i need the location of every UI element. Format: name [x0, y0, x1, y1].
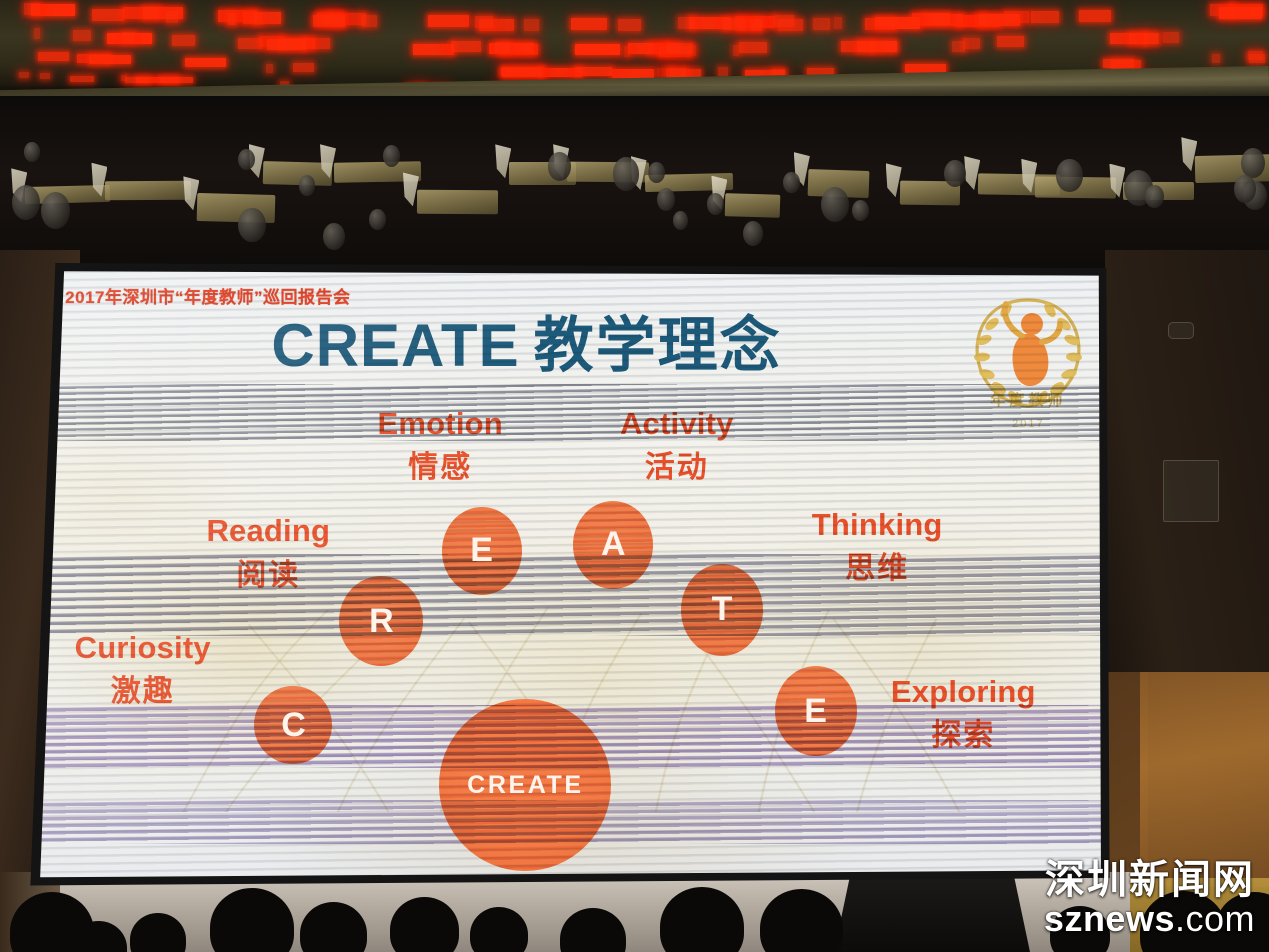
- led-light: [1031, 11, 1059, 23]
- slide-title: CREATE教学理念: [26, 297, 1027, 384]
- led-light: [428, 15, 469, 27]
- led-light: [89, 55, 131, 64]
- stage-lamp: [383, 145, 400, 167]
- label-exploring-zh: 探索: [858, 716, 1068, 756]
- stage-lamp: [673, 211, 688, 230]
- slide-title-en: CREATE: [271, 312, 519, 379]
- led-light: [172, 35, 195, 46]
- podium: [830, 876, 1030, 952]
- label-activity-en: Activity: [592, 403, 762, 445]
- led-light: [413, 44, 454, 55]
- watermark: 深圳新闻网 sznews.com: [1044, 860, 1255, 938]
- led-light: [293, 63, 314, 72]
- led-light: [24, 3, 40, 15]
- label-emotion-zh: 情感: [350, 448, 530, 488]
- stage-lamp: [24, 142, 40, 161]
- led-light: [997, 36, 1024, 47]
- watermark-site-name: sznews: [1044, 898, 1175, 939]
- led-light: [1103, 59, 1134, 68]
- label-reading: Reading 阅读: [178, 510, 358, 596]
- bubble-a: A: [573, 501, 653, 589]
- stage-lamp: [12, 185, 41, 221]
- led-light: [1219, 7, 1262, 19]
- led-light: [1079, 10, 1111, 22]
- led-light: [624, 46, 630, 57]
- label-thinking-zh: 思维: [782, 549, 972, 589]
- led-light: [575, 44, 620, 55]
- led-light: [774, 15, 794, 27]
- stage-lamp: [743, 221, 763, 246]
- led-light: [657, 68, 665, 77]
- led-light: [313, 15, 345, 27]
- led-light: [834, 17, 842, 29]
- bubble-e1-letter: E: [470, 531, 493, 570]
- stage-lamp: [1056, 159, 1082, 192]
- bubble-e1: E: [442, 507, 522, 595]
- label-thinking-en: Thinking: [782, 504, 972, 546]
- led-light: [38, 52, 69, 61]
- label-reading-en: Reading: [178, 510, 358, 552]
- label-curiosity: Curiosity 激趣: [48, 627, 238, 713]
- bubble-t-letter: T: [712, 590, 733, 629]
- led-light: [979, 14, 1020, 26]
- stage-lamp: [613, 157, 640, 191]
- led-light: [571, 18, 607, 30]
- led-light: [1212, 54, 1220, 63]
- led-light: [678, 17, 695, 29]
- wall-vent: [1168, 322, 1194, 339]
- led-light: [160, 77, 193, 83]
- bubble-create-label: CREATE: [467, 771, 584, 800]
- label-activity: Activity 活动: [592, 403, 762, 489]
- stage-lamp: [1145, 185, 1163, 208]
- led-light: [267, 39, 306, 50]
- label-emotion: Emotion 情感: [350, 403, 530, 489]
- led-light: [19, 72, 29, 78]
- led-light: [228, 13, 235, 25]
- watermark-site: sznews.com: [1044, 901, 1255, 938]
- label-curiosity-en: Curiosity: [48, 627, 238, 669]
- led-light: [122, 32, 135, 43]
- led-light: [34, 28, 40, 39]
- led-light: [739, 42, 767, 53]
- truss-fixture: [725, 193, 781, 218]
- logo-caption: 年度教师: [962, 389, 1094, 410]
- screen-scanband-1: [26, 384, 1114, 441]
- stage-lamp: [783, 172, 800, 193]
- led-light: [723, 18, 746, 30]
- bubble-e2-letter: E: [804, 692, 827, 731]
- label-thinking: Thinking 思维: [782, 504, 972, 590]
- led-light: [92, 9, 124, 21]
- stage-lamp: [369, 209, 386, 230]
- led-light: [618, 19, 641, 31]
- led-light: [1144, 33, 1159, 44]
- truss-fixture: [105, 181, 191, 200]
- bubble-t: T: [681, 564, 763, 656]
- led-light: [475, 16, 493, 28]
- led-light: [451, 41, 481, 52]
- logo-year: 2017: [962, 418, 1094, 430]
- led-light: [666, 68, 686, 77]
- audience-head: [390, 897, 459, 952]
- bubble-c-letter: C: [281, 706, 306, 745]
- led-light: [70, 76, 94, 82]
- stage-lamp: [707, 193, 725, 215]
- led-light: [495, 42, 510, 53]
- stage-lamp: [41, 192, 70, 228]
- label-emotion-en: Emotion: [350, 403, 530, 445]
- led-light: [73, 30, 91, 41]
- led-light: [254, 13, 263, 25]
- stage-lamp: [1234, 175, 1256, 203]
- label-activity-zh: 活动: [592, 448, 762, 488]
- led-light: [575, 67, 612, 76]
- led-light: [185, 58, 226, 67]
- led-light: [857, 41, 897, 52]
- bubble-e2: E: [775, 666, 857, 756]
- bubble-r-letter: R: [369, 602, 394, 641]
- led-light: [125, 77, 150, 83]
- stage-lamp: [944, 160, 966, 187]
- led-light: [40, 73, 50, 79]
- bubble-r: R: [339, 576, 423, 666]
- led-light: [813, 18, 830, 30]
- led-light: [667, 43, 693, 54]
- right-wood-panel: [1140, 672, 1269, 887]
- led-light: [1249, 54, 1265, 63]
- stage-lamp: [238, 208, 266, 243]
- led-light: [502, 68, 542, 77]
- stage-lamp: [548, 152, 571, 180]
- led-light: [751, 19, 762, 31]
- led-light: [875, 17, 920, 29]
- led-light: [361, 15, 377, 27]
- led-light: [238, 38, 263, 49]
- led-light: [963, 38, 980, 49]
- truss-fixture: [417, 190, 498, 214]
- bubble-c: C: [254, 686, 332, 764]
- led-light: [166, 11, 178, 23]
- watermark-zh: 深圳新闻网: [1044, 860, 1255, 901]
- stage-lamp: [1241, 148, 1265, 178]
- led-light: [266, 64, 273, 73]
- wall-plate: [1163, 460, 1219, 522]
- label-exploring-en: Exploring: [858, 671, 1068, 713]
- auditorium-photo: 2017年深圳市“年度教师”巡回报告会 CREATE教学理念: [0, 0, 1269, 952]
- annual-teacher-award-logo: 年度教师 2017: [962, 284, 1094, 436]
- label-curiosity-zh: 激趣: [48, 672, 238, 712]
- led-light: [524, 19, 539, 31]
- stage-lamp: [657, 188, 676, 211]
- watermark-tld: .com: [1175, 898, 1255, 939]
- bubble-a-letter: A: [601, 525, 626, 564]
- led-light: [952, 41, 965, 52]
- led-light: [718, 67, 728, 76]
- led-light: [612, 69, 654, 78]
- slide-title-zh: 教学理念: [534, 312, 782, 379]
- label-exploring: Exploring 探索: [858, 671, 1068, 757]
- led-screen: 2017年深圳市“年度教师”巡回报告会 CREATE教学理念: [26, 258, 1114, 888]
- led-light: [1163, 32, 1179, 43]
- bubble-create-center: CREATE: [439, 699, 611, 871]
- label-reading-zh: 阅读: [178, 556, 358, 596]
- led-screen-frame: 2017年深圳市“年度教师”巡回报告会 CREATE教学理念: [26, 258, 1114, 888]
